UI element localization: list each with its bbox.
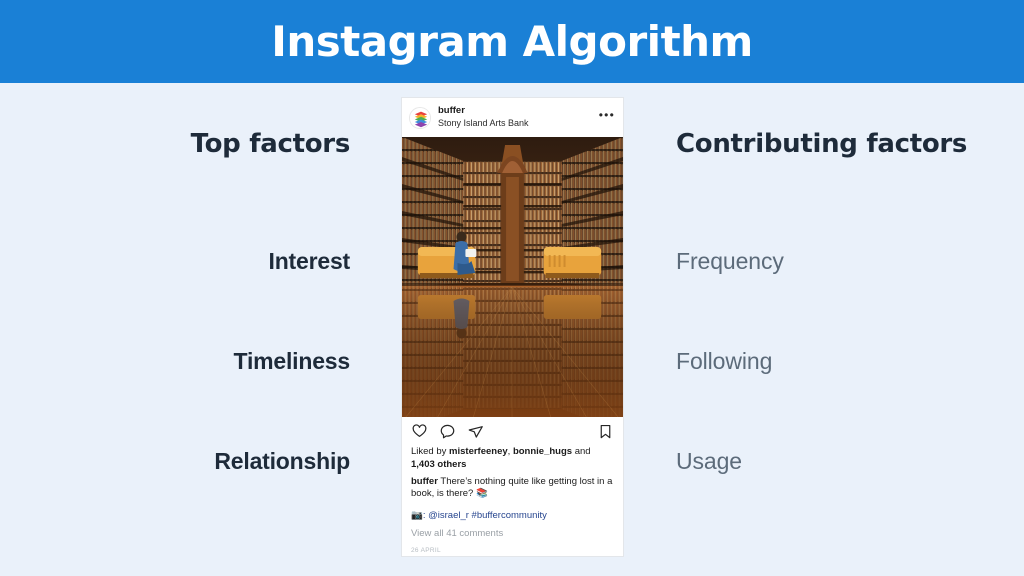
send-icon[interactable]	[467, 423, 484, 440]
contributing-factor-usage: Usage	[676, 449, 996, 474]
top-factor-relationship: Relationship	[40, 449, 350, 474]
post-caption: buffer There’s nothing quite like gettin…	[411, 476, 614, 502]
more-options-icon[interactable]: •••	[599, 112, 615, 123]
likes-count[interactable]: 1,403 others	[411, 459, 466, 470]
liker-one[interactable]: misterfeeney	[449, 446, 508, 457]
likes-middle: and	[572, 446, 591, 457]
buffer-logo-icon	[410, 108, 431, 129]
avatar[interactable]	[409, 107, 431, 129]
post-header: buffer Stony Island Arts Bank •••	[402, 98, 623, 137]
contributing-factor-frequency: Frequency	[676, 249, 996, 274]
post-likes: Liked by misterfeeney, bonnie_hugs and 1…	[411, 446, 614, 472]
post-photo	[402, 137, 623, 417]
contributing-factor-following: Following	[676, 349, 996, 374]
top-factors-heading: Top factors	[40, 130, 350, 159]
comment-icon[interactable]	[439, 423, 456, 440]
top-factor-timeliness: Timeliness	[40, 349, 350, 374]
page-title: Instagram Algorithm	[271, 17, 753, 66]
top-factors-column: Top factors Interest Timeliness Relation…	[40, 130, 350, 159]
contributing-factors-column: Contributing factors Frequency Following…	[676, 130, 996, 159]
post-username[interactable]: buffer	[438, 106, 599, 117]
caption-text: There’s nothing quite like getting lost …	[411, 476, 612, 500]
contributing-factors-heading: Contributing factors	[676, 130, 996, 159]
post-credit-line: 📷: @israel_r #buffercommunity	[411, 510, 614, 523]
liker-two[interactable]: bonnie_hugs	[513, 446, 572, 457]
credit-text[interactable]: : @israel_r #buffercommunity	[423, 510, 547, 521]
post-author-block: buffer Stony Island Arts Bank	[438, 106, 599, 128]
bookmark-icon[interactable]	[597, 423, 614, 440]
post-date: 26 APRIL	[411, 547, 614, 554]
likes-prefix: Liked by	[411, 446, 449, 457]
post-actions	[402, 417, 623, 446]
post-location[interactable]: Stony Island Arts Bank	[438, 118, 599, 128]
view-all-comments-link[interactable]: View all 41 comments	[411, 528, 614, 541]
post-body: Liked by misterfeeney, bonnie_hugs and 1…	[402, 446, 623, 554]
library-photo-illustration	[402, 137, 623, 417]
instagram-post-card: buffer Stony Island Arts Bank •••	[401, 97, 624, 557]
header-banner: Instagram Algorithm	[0, 0, 1024, 83]
top-factor-interest: Interest	[40, 249, 350, 274]
heart-icon[interactable]	[411, 423, 428, 440]
camera-icon: 📷	[411, 510, 423, 521]
caption-author[interactable]: buffer	[411, 476, 438, 487]
